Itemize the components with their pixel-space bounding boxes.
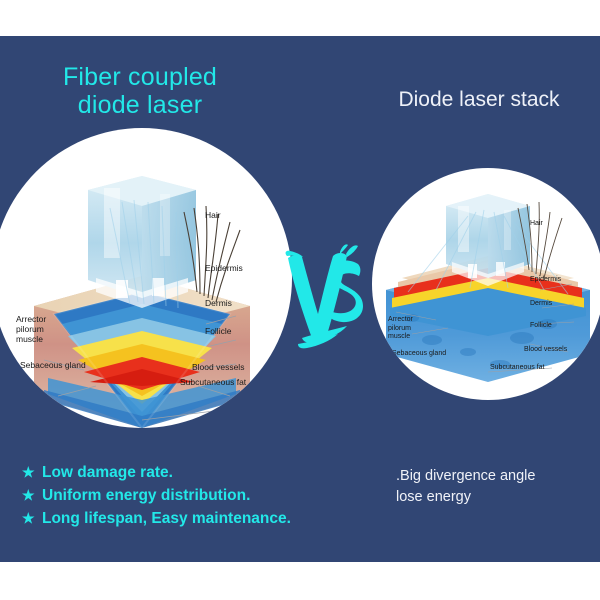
right-diagram-circle: Hair Epidermis Dermis Follicle Blood ves… <box>372 168 600 400</box>
right-drawbacks-list: .Big divergence angle lose energy <box>396 466 596 508</box>
comparison-infographic: Fiber coupled diode laser Diode laser st… <box>0 0 600 600</box>
right-bullet-text-line1: Big divergence angle <box>400 468 535 484</box>
left-label-dermis: Dermis <box>205 298 232 308</box>
right-skin-illustration <box>372 168 600 400</box>
right-skin-svg <box>372 168 600 400</box>
vs-graphic <box>284 242 364 352</box>
right-label-sebaceous-gland: Sebaceous gland <box>392 350 446 359</box>
left-diagram-circle: Hair Epidermis Dermis Follicle Blood ves… <box>0 128 292 428</box>
left-label-arrector-pilorum-muscle: Arrector pilorum muscle <box>16 314 78 344</box>
left-label-epidermis: Epidermis <box>205 263 243 273</box>
left-title: Fiber coupled diode laser <box>14 63 266 119</box>
left-benefits-list: ★ Low damage rate. ★ Uniform energy dist… <box>22 461 362 530</box>
navy-panel: Fiber coupled diode laser Diode laser st… <box>0 36 600 562</box>
right-label-dermis: Dermis <box>530 300 552 309</box>
right-bullet-item-1: .Big divergence angle <box>396 466 596 487</box>
right-label-arrector-line3: muscle <box>388 333 440 342</box>
left-label-hair: Hair <box>205 210 221 220</box>
right-label-blood-vessels: Blood vessels <box>524 346 567 355</box>
left-title-line2: diode laser <box>14 91 266 119</box>
left-bullet-text-2: Uniform energy distribution. <box>42 484 250 507</box>
left-label-sebaceous-gland: Sebaceous gland <box>20 360 86 370</box>
star-icon: ★ <box>22 484 42 507</box>
left-skin-svg <box>0 128 292 428</box>
right-label-hair: Hair <box>530 220 543 229</box>
left-label-follicle: Follicle <box>205 326 231 336</box>
right-label-arrector-line2: pilorum <box>388 325 440 334</box>
left-title-line1: Fiber coupled <box>14 63 266 91</box>
left-bullet-text-3: Long lifespan, Easy maintenance. <box>42 507 291 530</box>
right-title: Diode laser stack <box>358 88 600 112</box>
right-label-subcutaneous-fat: Subcutaneous fat <box>490 364 545 373</box>
left-bullet-item-1: ★ Low damage rate. <box>22 461 362 484</box>
right-label-follicle: Follicle <box>530 322 552 331</box>
left-bullet-item-3: ★ Long lifespan, Easy maintenance. <box>22 507 362 530</box>
left-label-blood-vessels: Blood vessels <box>192 362 244 372</box>
right-label-arrector-line1: Arrector <box>388 316 440 325</box>
star-icon: ★ <box>22 461 42 484</box>
left-label-arrector-line1: Arrector <box>16 314 78 324</box>
left-bullet-text-1: Low damage rate. <box>42 461 173 484</box>
left-skin-illustration <box>0 128 292 428</box>
right-label-arrector-pilorum-muscle: Arrector pilorum muscle <box>388 316 440 342</box>
right-label-epidermis: Epidermis <box>530 276 561 285</box>
left-label-arrector-line3: muscle <box>16 334 78 344</box>
left-bullet-item-2: ★ Uniform energy distribution. <box>22 484 362 507</box>
vs-icon <box>284 242 364 352</box>
star-icon: ★ <box>22 507 42 530</box>
left-label-arrector-line2: pilorum <box>16 324 78 334</box>
right-bullet-text-line2: lose energy <box>396 487 596 508</box>
left-label-subcutaneous-fat: Subcutaneous fat <box>180 377 246 387</box>
